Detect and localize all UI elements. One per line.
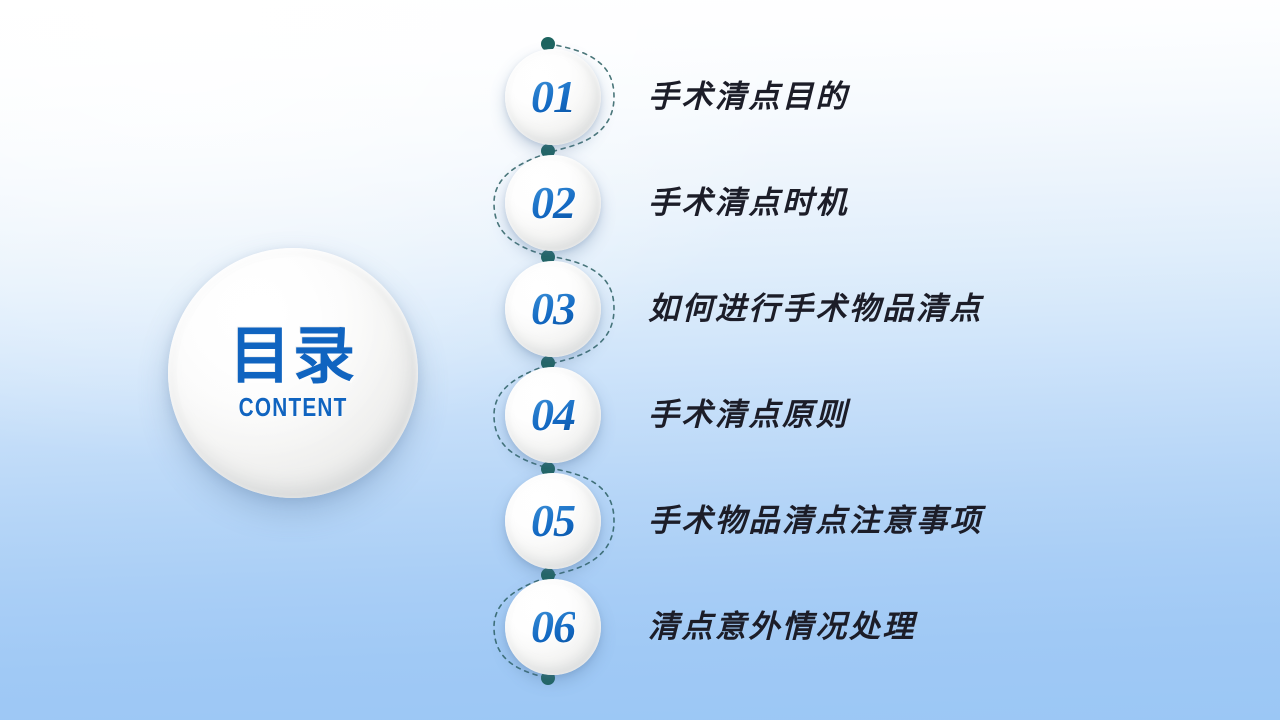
toc-number-03: 03 xyxy=(531,286,575,332)
toc-label-06: 清点意外情况处理 xyxy=(648,579,1078,675)
toc-label-04: 手术清点原则 xyxy=(648,367,1078,463)
toc-label-03: 如何进行手术物品清点 xyxy=(648,261,1008,357)
toc-number-circle-03[interactable]: 03 xyxy=(505,261,601,357)
toc-number-05: 05 xyxy=(531,498,575,544)
toc-item-06[interactable]: 06 清点意外情况处理 xyxy=(505,579,1205,675)
toc-number-02: 02 xyxy=(531,180,575,226)
content-disc: 目录 CONTENT xyxy=(168,248,418,498)
toc-number-circle-02[interactable]: 02 xyxy=(505,155,601,251)
toc-number-circle-01[interactable]: 01 xyxy=(505,49,601,145)
toc-number-01: 01 xyxy=(531,74,575,120)
toc-label-05: 手术物品清点注意事项 xyxy=(648,473,1118,569)
toc-number-06: 06 xyxy=(531,604,575,650)
toc-item-04[interactable]: 04 手术清点原则 xyxy=(505,367,1205,463)
toc-label-02: 手术清点时机 xyxy=(648,155,1078,251)
toc-item-02[interactable]: 02 手术清点时机 xyxy=(505,155,1205,251)
toc-number-circle-06[interactable]: 06 xyxy=(505,579,601,675)
slide-canvas: 目录 CONTENT 01 手术清点目的 02 手术清点时机 03 如何进行手术… xyxy=(0,0,1280,720)
content-disc-title-en: CONTENT xyxy=(239,394,348,420)
toc-label-01: 手术清点目的 xyxy=(648,49,1078,145)
toc-item-01[interactable]: 01 手术清点目的 xyxy=(505,49,1205,145)
content-disc-title-cn: 目录 xyxy=(229,326,357,388)
toc-number-circle-05[interactable]: 05 xyxy=(505,473,601,569)
toc-number-circle-04[interactable]: 04 xyxy=(505,367,601,463)
toc-item-03[interactable]: 03 如何进行手术物品清点 xyxy=(505,261,1205,357)
toc-item-05[interactable]: 05 手术物品清点注意事项 xyxy=(505,473,1205,569)
toc-number-04: 04 xyxy=(531,392,575,438)
